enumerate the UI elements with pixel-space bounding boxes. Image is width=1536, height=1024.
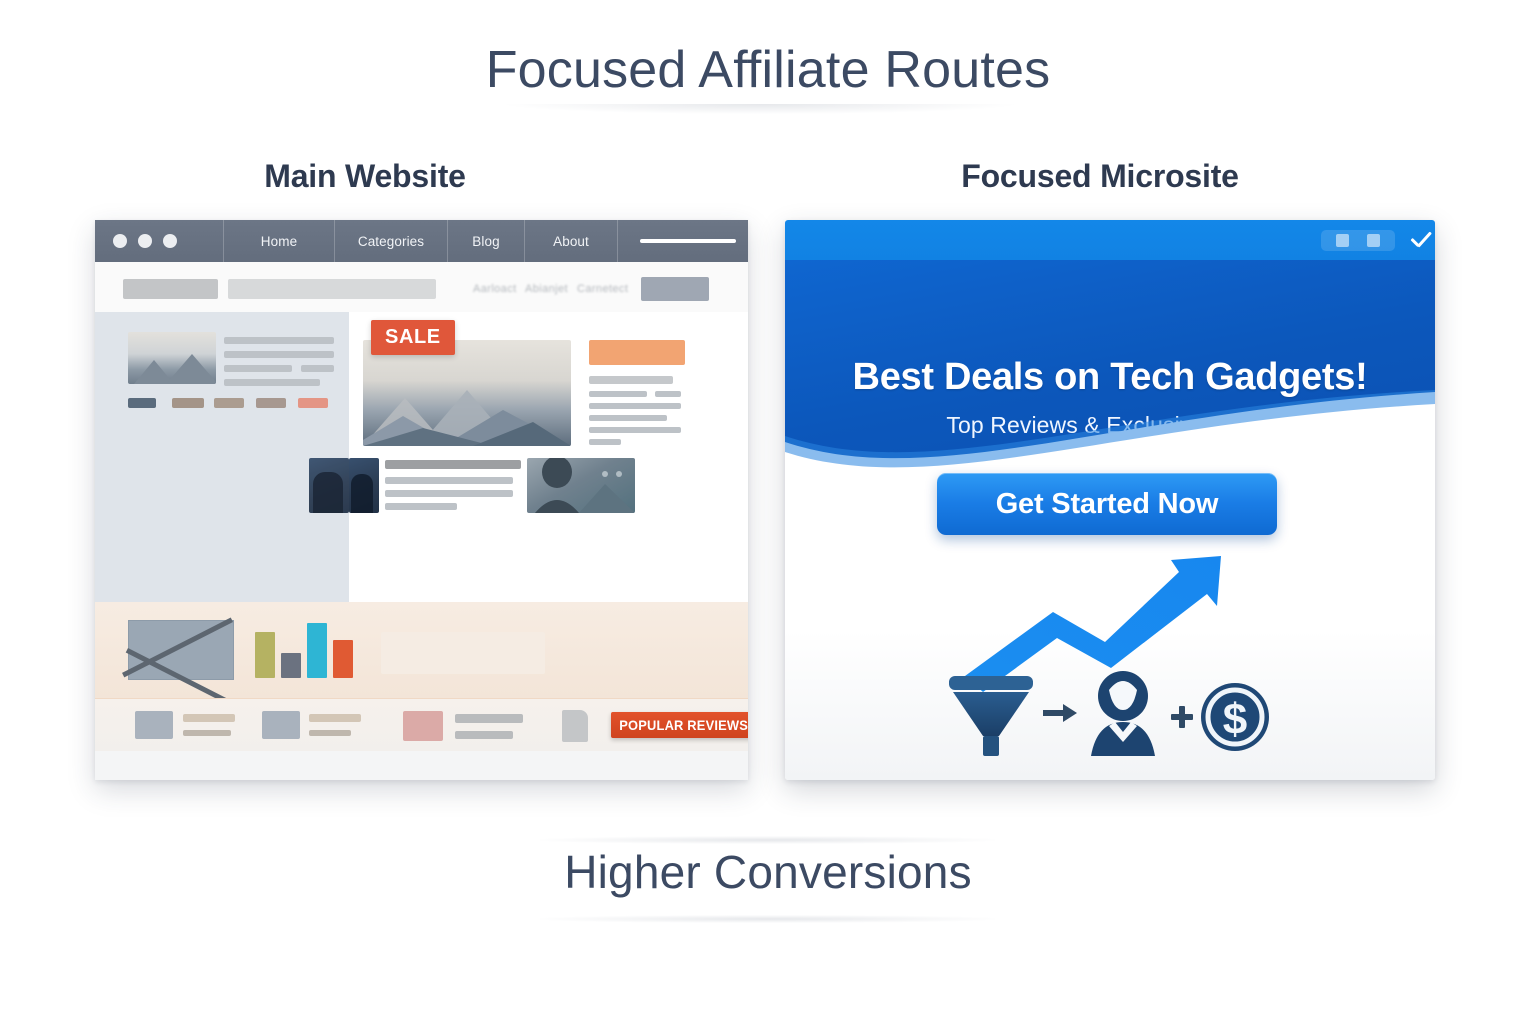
review-thumb-3[interactable] xyxy=(403,711,443,741)
text-line xyxy=(385,490,513,497)
chart-bar-2 xyxy=(281,653,301,678)
text-line xyxy=(455,714,523,723)
hero-image[interactable] xyxy=(363,340,571,446)
logo-placeholder xyxy=(123,279,218,299)
microsite-title-bar xyxy=(785,220,1435,260)
funnel-icon xyxy=(949,676,1033,756)
text-line xyxy=(224,351,334,358)
nav-item-home[interactable]: Home xyxy=(224,220,334,262)
nav-divider xyxy=(617,220,618,262)
text-line xyxy=(224,365,292,372)
nav-item-about[interactable]: About xyxy=(525,220,617,262)
window-dot-minimize-icon[interactable] xyxy=(138,234,152,248)
poster-canvas: Focused Affiliate Routes Main Website Fo… xyxy=(0,0,1536,1024)
caption-rule-bottom xyxy=(540,915,995,923)
text-line xyxy=(224,337,334,344)
sale-badge[interactable]: SALE xyxy=(371,320,455,355)
minimize-icon[interactable] xyxy=(1336,234,1349,247)
chart-bar-3 xyxy=(307,623,327,678)
plus-icon xyxy=(1171,706,1193,728)
focused-microsite-window[interactable]: Best Deals on Tech Gadgets! Top Reviews … xyxy=(785,220,1435,780)
account-button[interactable] xyxy=(641,277,709,301)
person-icon xyxy=(1091,671,1155,756)
right-panel-label: Focused Microsite xyxy=(790,158,1410,195)
utility-link-3[interactable]: Carnetect xyxy=(577,283,628,295)
text-line xyxy=(385,477,513,484)
window-dot-close-icon[interactable] xyxy=(113,234,127,248)
search-input[interactable] xyxy=(228,279,436,299)
tag-chip[interactable] xyxy=(214,398,244,408)
text-line xyxy=(589,391,647,397)
text-line xyxy=(589,403,681,409)
article-thumbnail-1[interactable] xyxy=(128,332,216,384)
title-underline-shadow xyxy=(506,104,1014,114)
tag-chip[interactable] xyxy=(256,398,286,408)
confirm-check-icon[interactable] xyxy=(1409,230,1435,250)
maximize-icon[interactable] xyxy=(1367,234,1380,247)
promo-block[interactable] xyxy=(589,340,685,365)
text-line xyxy=(455,731,513,739)
article-thumbnail-3[interactable] xyxy=(527,458,635,513)
dollar-coin-icon: $ xyxy=(1201,683,1269,751)
document-icon xyxy=(562,710,588,742)
growth-arrow-icon xyxy=(965,556,1221,692)
popular-reviews-strip: POPULAR REVIEWS xyxy=(95,698,748,751)
promo-spacer xyxy=(381,632,545,674)
caption-rule-top xyxy=(540,836,995,844)
text-line xyxy=(301,365,334,372)
text-line xyxy=(309,730,351,736)
text-line xyxy=(385,460,521,469)
svg-text:$: $ xyxy=(1223,695,1247,744)
review-thumb-1[interactable] xyxy=(135,711,173,739)
tag-chip[interactable] xyxy=(172,398,204,408)
text-line xyxy=(183,730,231,736)
page-title: Focused Affiliate Routes xyxy=(0,40,1536,100)
chart-bar-4 xyxy=(333,640,353,678)
window-dot-maximize-icon[interactable] xyxy=(163,234,177,248)
get-started-cta-button[interactable]: Get Started Now xyxy=(937,473,1277,535)
nav-item-blog[interactable]: Blog xyxy=(448,220,524,262)
text-line xyxy=(589,427,681,433)
article-thumbnail-4[interactable] xyxy=(309,458,349,513)
bottom-caption: Higher Conversions xyxy=(0,845,1536,899)
window-controls-group[interactable] xyxy=(1321,230,1395,251)
utility-link-1[interactable]: Aarloact xyxy=(473,283,517,295)
text-line xyxy=(589,415,667,421)
text-line xyxy=(309,714,361,722)
utility-link-2[interactable]: Abianjet xyxy=(525,283,568,295)
text-line xyxy=(183,714,235,722)
text-line xyxy=(385,503,457,510)
window-control-dots[interactable] xyxy=(95,234,223,248)
text-line xyxy=(589,439,621,445)
arrow-right-icon xyxy=(1043,704,1077,722)
site-content-area: SALE xyxy=(95,312,748,602)
text-line xyxy=(655,391,681,397)
tag-chip[interactable] xyxy=(298,398,328,408)
envelope-icon xyxy=(128,620,234,680)
conversion-icons-svg: $ xyxy=(935,550,1285,760)
chart-bar-1 xyxy=(255,632,275,678)
text-line xyxy=(224,379,320,386)
popular-reviews-badge[interactable]: POPULAR REVIEWS xyxy=(611,712,748,738)
main-website-browser-window[interactable]: Home Categories Blog About Aarloact Abia… xyxy=(95,220,748,780)
article-thumbnail-2[interactable] xyxy=(349,458,379,513)
left-panel-label: Main Website xyxy=(95,158,635,195)
text-line xyxy=(589,376,673,384)
tag-chip[interactable] xyxy=(128,398,156,408)
address-bar[interactable] xyxy=(640,239,736,243)
nav-item-categories[interactable]: Categories xyxy=(335,220,447,262)
browser-chrome-bar: Home Categories Blog About xyxy=(95,220,748,262)
site-utility-toolbar: Aarloact Abianjet Carnetect xyxy=(95,262,748,313)
review-thumb-2[interactable] xyxy=(262,711,300,739)
promo-strip xyxy=(95,602,748,698)
